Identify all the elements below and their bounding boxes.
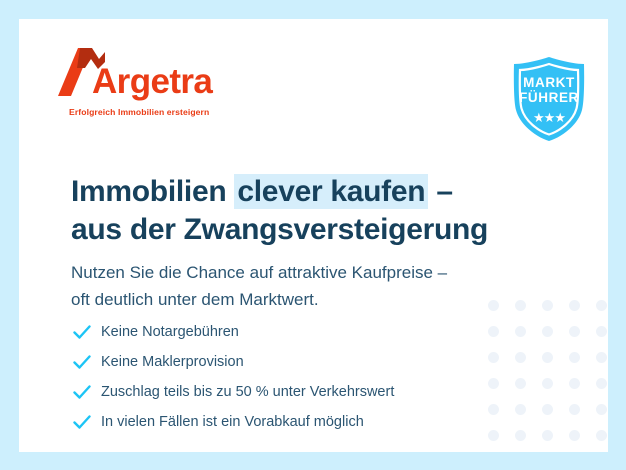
benefits-list: Keine NotargebührenKeine Maklerprovision…	[73, 317, 503, 437]
decoration-dot	[596, 430, 607, 441]
page-headline: Immobilien clever kaufen – aus der Zwang…	[71, 173, 541, 249]
benefit-label: Zuschlag teils bis zu 50 % unter Verkehr…	[101, 385, 394, 400]
decoration-dot	[596, 300, 607, 311]
decoration-dot	[569, 430, 580, 441]
argetra-logo[interactable]: Argetra Erfolgreich Immobilien ersteiger…	[58, 43, 218, 113]
dot-grid-decoration	[488, 300, 601, 452]
decoration-dot	[542, 430, 553, 441]
decoration-dot	[515, 404, 526, 415]
benefit-label: Keine Notargebühren	[101, 325, 239, 340]
logo-wordmark: Argetra	[92, 64, 212, 99]
market-leader-badge: MARKT FÜHRER ★★★	[508, 55, 590, 143]
benefit-item: Zuschlag teils bis zu 50 % unter Verkehr…	[73, 377, 503, 407]
benefit-item: Keine Maklerprovision	[73, 347, 503, 377]
headline-highlight: clever kaufen	[234, 174, 428, 209]
decoration-dot	[596, 326, 607, 337]
subheadline-line-2: oft deutlich unter dem Marktwert.	[71, 290, 319, 309]
decoration-dot	[515, 326, 526, 337]
benefit-item: In vielen Fällen ist ein Vorabkauf mögli…	[73, 407, 503, 437]
benefit-item: Keine Notargebühren	[73, 317, 503, 347]
decoration-dot	[596, 378, 607, 389]
benefit-label: In vielen Fällen ist ein Vorabkauf mögli…	[101, 415, 364, 430]
check-icon	[73, 354, 101, 370]
decoration-dot	[569, 378, 580, 389]
shield-badge-icon	[508, 55, 590, 143]
decoration-dot	[596, 404, 607, 415]
headline-part-2: –	[428, 175, 452, 208]
headline-part-1: Immobilien	[71, 175, 234, 208]
page-subheadline: Nutzen Sie die Chance auf attraktive Kau…	[71, 259, 541, 313]
decoration-dot	[542, 352, 553, 363]
decoration-dot	[569, 352, 580, 363]
check-icon	[73, 414, 101, 430]
decoration-dot	[542, 326, 553, 337]
promo-card: Argetra Erfolgreich Immobilien ersteiger…	[19, 19, 608, 452]
decoration-dot	[569, 404, 580, 415]
subheadline-line-1: Nutzen Sie die Chance auf attraktive Kau…	[71, 263, 447, 282]
check-icon	[73, 324, 101, 340]
decoration-dot	[569, 326, 580, 337]
benefit-label: Keine Maklerprovision	[101, 355, 244, 370]
decoration-dot	[569, 300, 580, 311]
decoration-dot	[596, 352, 607, 363]
decoration-dot	[515, 378, 526, 389]
logo-tagline: Erfolgreich Immobilien ersteigern	[69, 107, 209, 117]
decoration-dot	[542, 404, 553, 415]
decoration-dot	[515, 430, 526, 441]
decoration-dot	[542, 378, 553, 389]
headline-line-2: aus der Zwangsversteigerung	[71, 213, 488, 246]
check-icon	[73, 384, 101, 400]
decoration-dot	[515, 352, 526, 363]
decoration-dot	[542, 300, 553, 311]
